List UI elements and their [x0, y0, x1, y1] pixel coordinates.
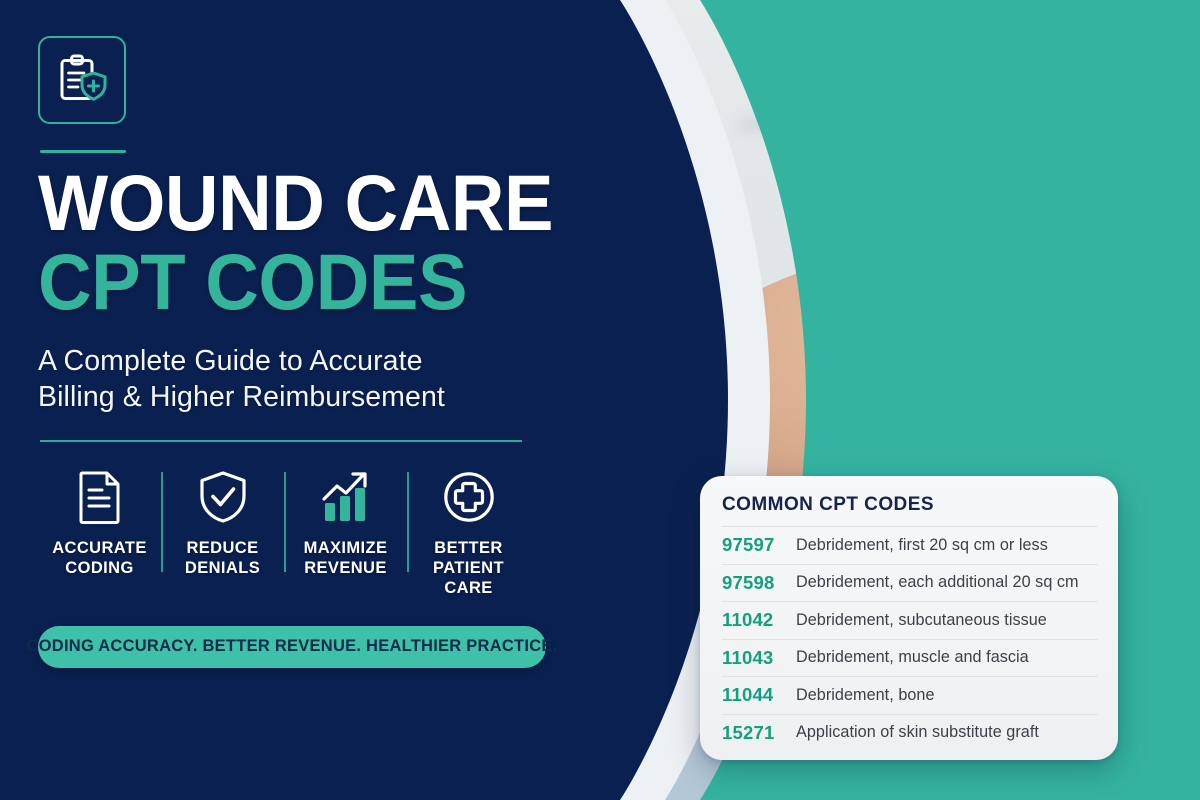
- feature-label-line2: CODING: [52, 558, 147, 578]
- cpt-row: 11042 Debridement, subcutaneous tissue: [722, 601, 1098, 639]
- page-subtitle-line2: Billing & Higher Reimbursement: [38, 379, 538, 415]
- feature-reduce-denials: REDUCE DENIALS: [161, 468, 284, 598]
- cpt-description: Debridement, subcutaneous tissue: [796, 611, 1047, 630]
- page-subtitle-line1: A Complete Guide to Accurate: [38, 343, 538, 379]
- page-subtitle: A Complete Guide to Accurate Billing & H…: [38, 343, 538, 416]
- feature-label-line2: PATIENT CARE: [411, 558, 526, 598]
- document-lines-icon: [78, 468, 122, 526]
- feature-list: ACCURATE CODING REDUCE DENIALS: [38, 468, 530, 598]
- feature-label-line2: DENIALS: [185, 558, 260, 578]
- cpt-code: 11042: [722, 609, 796, 631]
- cpt-description: Debridement, bone: [796, 686, 935, 705]
- shield-check-icon: [198, 468, 248, 526]
- cpt-row: 97597 Debridement, first 20 sq cm or les…: [722, 526, 1098, 564]
- cpt-description: Debridement, muscle and fascia: [796, 648, 1029, 667]
- cpt-row: 11044 Debridement, bone: [722, 676, 1098, 714]
- feature-label-line1: BETTER: [411, 538, 526, 558]
- infographic-poster: WOUND CARE CPT CODES A Complete Guide to…: [0, 0, 1200, 800]
- feature-maximize-revenue: MAXIMIZE REVENUE: [284, 468, 407, 598]
- page-title-line1: WOUND CARE: [38, 167, 529, 240]
- feature-label-line1: ACCURATE: [52, 538, 147, 558]
- cpt-description: Application of skin substitute graft: [796, 723, 1039, 742]
- medical-cross-circle-icon: [442, 468, 496, 526]
- cpt-card-title: COMMON CPT CODES: [722, 494, 1098, 516]
- bottle-b-blur: [818, 140, 870, 250]
- cpt-code: 11044: [722, 684, 796, 706]
- gloved-fingers-right: [1000, 270, 1179, 429]
- brand-logo: [38, 36, 126, 124]
- cpt-row: 15271 Application of skin substitute gra…: [722, 714, 1098, 752]
- cpt-row: 97598 Debridement, each additional 20 sq…: [722, 564, 1098, 602]
- feature-better-patient-care: BETTER PATIENT CARE: [407, 468, 530, 598]
- cpt-description: Debridement, first 20 sq cm or less: [796, 536, 1048, 555]
- page-title-line2: CPT CODES: [38, 242, 529, 321]
- feature-label-line1: REDUCE: [185, 538, 260, 558]
- feature-label: MAXIMIZE REVENUE: [304, 538, 388, 578]
- feature-label: ACCURATE CODING: [52, 538, 147, 578]
- common-cpt-codes-card: COMMON CPT CODES 97597 Debridement, firs…: [700, 476, 1118, 760]
- cpt-code: 11043: [722, 647, 796, 669]
- tagline-banner: CODING ACCURACY. BETTER REVENUE. HEALTHI…: [38, 626, 546, 668]
- cpt-code: 97598: [722, 572, 796, 594]
- cpt-description: Debridement, each additional 20 sq cm: [796, 573, 1079, 592]
- title-top-rule: [40, 150, 126, 153]
- clipboard-shield-icon: [54, 52, 110, 108]
- cpt-row: 11043 Debridement, muscle and fascia: [722, 639, 1098, 677]
- cpt-code: 97597: [722, 534, 796, 556]
- feature-label: BETTER PATIENT CARE: [411, 538, 526, 598]
- growth-chart-icon: [319, 468, 373, 526]
- forceps-icon: [880, 215, 1000, 355]
- feature-label-line1: MAXIMIZE: [304, 538, 388, 558]
- tagline-text: CODING ACCURACY. BETTER REVENUE. HEALTHI…: [27, 637, 558, 656]
- feature-label-line2: REVENUE: [304, 558, 388, 578]
- subtitle-divider-rule: [40, 440, 522, 442]
- feature-label: REDUCE DENIALS: [185, 538, 260, 578]
- feature-accurate-coding: ACCURATE CODING: [38, 468, 161, 598]
- left-content-panel: WOUND CARE CPT CODES A Complete Guide to…: [0, 0, 560, 800]
- cpt-code: 15271: [722, 722, 796, 744]
